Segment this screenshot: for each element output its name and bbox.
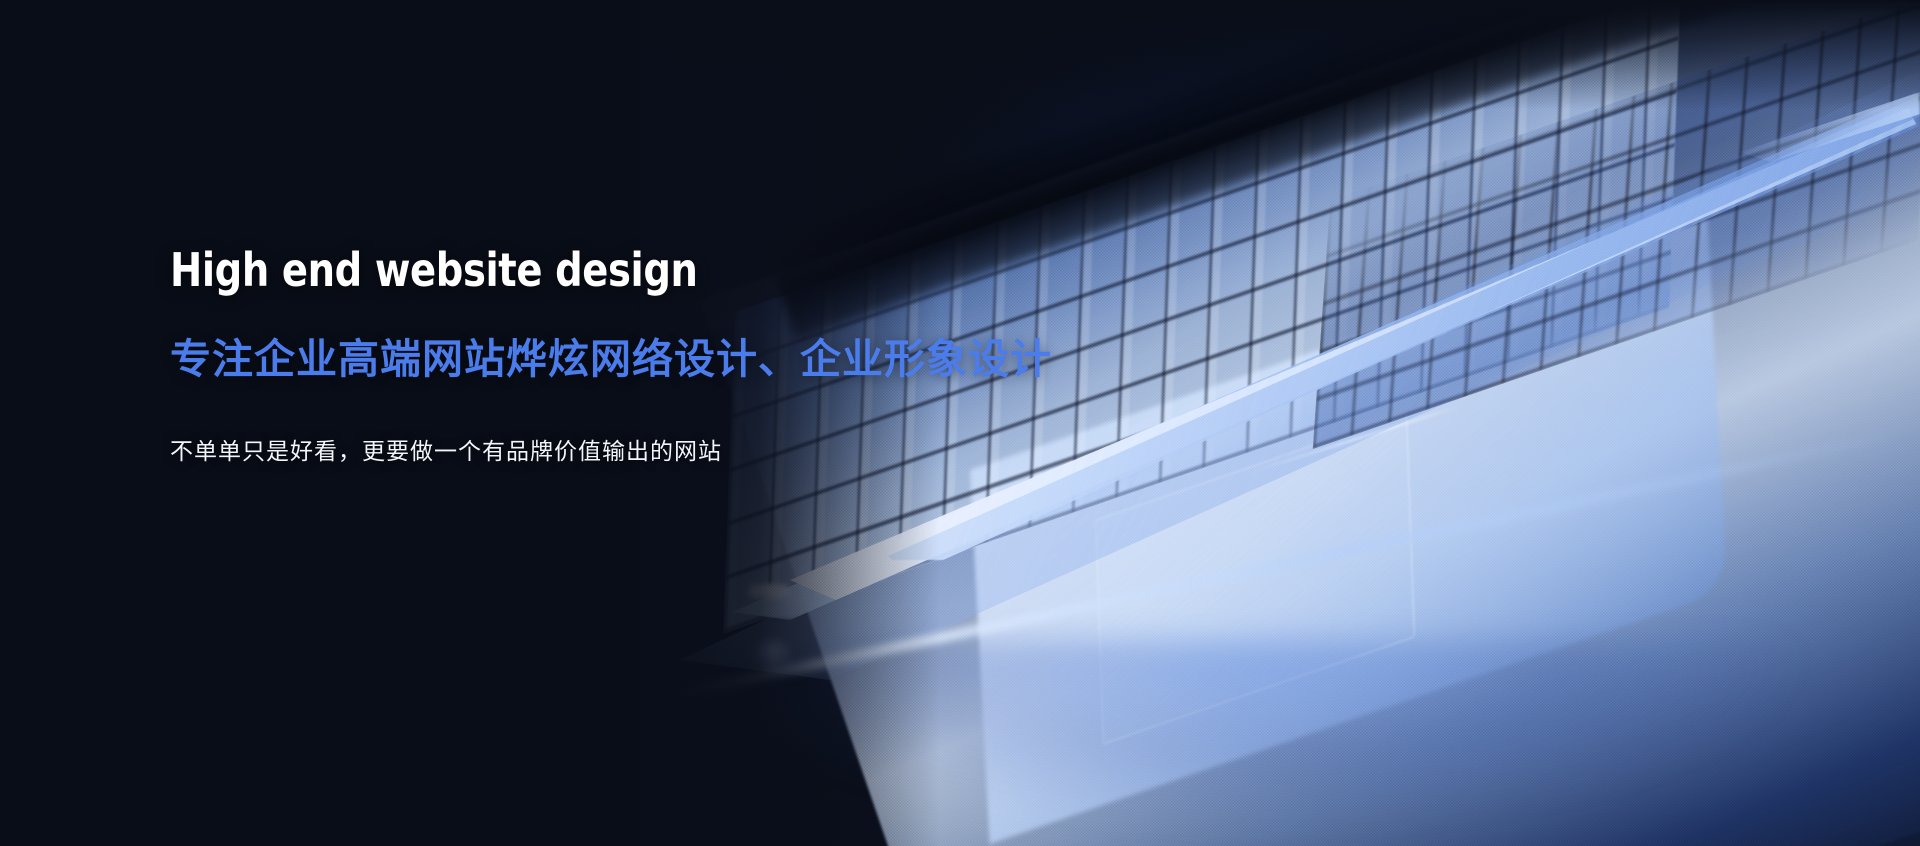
hero-subheadline: 专注企业高端网站烨炫网络设计、企业形象设计 xyxy=(170,334,1230,385)
hero-headline: High end website design xyxy=(170,246,1156,294)
hero-tagline: 不单单只是好看，更要做一个有品牌价值输出的网站 xyxy=(170,434,1230,469)
hero-banner: High end website design 专注企业高端网站烨炫网络设计、企… xyxy=(0,0,1920,846)
hero-copy: High end website design 专注企业高端网站烨炫网络设计、企… xyxy=(170,246,1230,468)
